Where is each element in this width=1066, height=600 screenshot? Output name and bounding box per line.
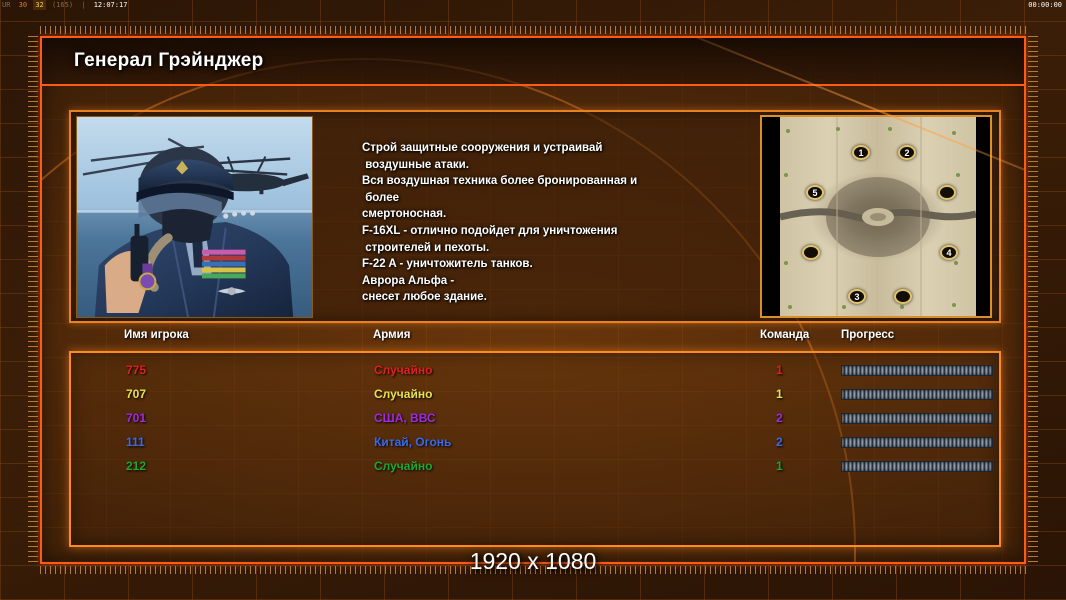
map-start-position[interactable] [802,245,820,260]
desc-line: смертоносная. [362,206,762,223]
map-start-position[interactable]: 4 [940,245,958,260]
table-row[interactable]: 701 США, ВВС 2 [71,411,999,435]
player-army[interactable]: Случайно [374,363,432,377]
player-name: 775 [126,363,146,377]
map-tree [786,129,790,133]
player-name: 111 [126,435,145,449]
player-progress-bar [841,461,993,472]
desc-line: Аврора Альфа - [362,273,762,290]
map-start-position[interactable]: 3 [848,289,866,304]
header-bar: Генерал Грэйнджер [42,38,1024,86]
column-header-army: Армия [373,329,410,341]
map-tree [952,131,956,135]
map-tree [788,305,792,309]
desc-line: F-16XL - отлично подойдет для уничтожени… [362,223,762,240]
general-portrait [76,116,313,318]
desc-line: воздушные атаки. [362,157,762,174]
map-start-position[interactable] [938,185,956,200]
ruler-ticks-left [28,36,38,564]
app-root: UR 30 32 (165) | 12:07:17 00:00:00 Генер… [0,0,1066,600]
player-list-panel: Имя игрока Армия Команда Прогресс 775 Сл… [69,351,1001,547]
general-description: Строй защитные сооружения и устраивай во… [362,140,762,306]
player-team[interactable]: 1 [776,363,783,377]
player-name: 212 [126,459,146,473]
player-team[interactable]: 1 [776,459,783,473]
general-info-panel: Строй защитные сооружения и устраивай во… [69,110,1001,323]
player-name: 707 [126,387,146,401]
player-name: 701 [126,411,146,425]
player-team[interactable]: 1 [776,387,783,401]
player-army[interactable]: Случайно [374,387,432,401]
debug-seg-5: | [79,0,87,10]
player-team[interactable]: 2 [776,411,783,425]
player-progress-bar [841,413,993,424]
main-frame: Генерал Грэйнджер [40,36,1026,564]
column-header-team: Команда [760,329,809,341]
player-progress-bar [841,365,993,376]
desc-line: строителей и пехоты. [362,240,762,257]
table-row[interactable]: 775 Случайно 1 [71,363,999,387]
debug-time: 12:07:17 [92,0,130,10]
map-tree [784,173,788,177]
map-tree [784,261,788,265]
player-team[interactable]: 2 [776,435,783,449]
debug-seg-4: (165) [50,0,75,10]
debug-seg-3: 32 [33,0,45,10]
debug-status-bar: UR 30 32 (165) | 12:07:17 00:00:00 [0,0,1066,10]
ruler-ticks-right [1028,36,1038,564]
player-list-header: Имя игрока Армия Команда Прогресс [71,329,999,351]
map-tree [954,261,958,265]
column-header-progress: Прогресс [841,329,894,341]
desc-line: снесет любое здание. [362,289,762,306]
debug-seg-2: 30 [17,0,29,10]
map-start-position[interactable]: 1 [852,145,870,160]
player-progress-bar [841,389,993,400]
desc-line: Вся воздушная техника более бронированна… [362,173,762,190]
page-title: Генерал Грэйнджер [74,50,264,72]
map-tree [956,173,960,177]
player-army[interactable]: Случайно [374,459,432,473]
table-row[interactable]: 212 Случайно 1 [71,459,999,483]
player-army[interactable]: Китай, Огонь [374,435,451,449]
player-progress-bar [841,437,993,448]
map-start-position[interactable] [894,289,912,304]
map-tree [888,127,892,131]
debug-seg-1: UR [0,0,12,10]
desc-line: F-22 A - уничтожитель танков. [362,256,762,273]
desc-line: более [362,190,762,207]
ruler-ticks-top [40,26,1026,34]
map-tree [900,305,904,309]
debug-clock: 00:00:00 [1028,0,1062,10]
table-row[interactable]: 111 Китай, Огонь 2 [71,435,999,459]
resolution-label: 1920 x 1080 [0,548,1066,575]
map-tree [836,127,840,131]
map-tree [952,303,956,307]
table-row[interactable]: 707 Случайно 1 [71,387,999,411]
map-tree [842,305,846,309]
map-preview-panel[interactable]: 1 2 5 4 3 [760,115,992,318]
desc-line: Строй защитные сооружения и устраивай [362,140,762,157]
map-start-position[interactable]: 5 [806,185,824,200]
column-header-name: Имя игрока [124,329,189,341]
map-preview-image: 1 2 5 4 3 [780,117,976,316]
player-army[interactable]: США, ВВС [374,411,436,425]
map-start-position[interactable]: 2 [898,145,916,160]
